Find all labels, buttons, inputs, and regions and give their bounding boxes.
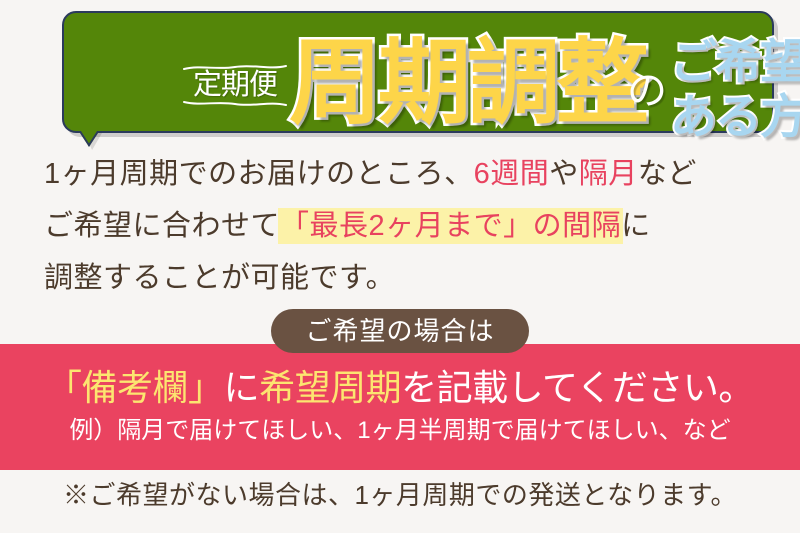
body-l2-seg1: ご希望に合わせて — [44, 210, 280, 242]
body-line-2: ご希望に合わせて「最長2ヶ月まで」の間隔に — [44, 200, 774, 252]
audience-line-1: ご希望が — [670, 35, 800, 89]
instruction-cycle-word: 希望周期 — [259, 367, 401, 408]
audience-line-2: ある方へ — [670, 90, 800, 144]
title-particle: の — [627, 71, 667, 111]
body-l2-highlight-maxtwomonths: 「最長2ヶ月まで」の間隔 — [280, 210, 621, 242]
promo-banner: 定期便 周期調整 の ご希望が ある方へ 1ヶ月周期でのお届けのところ、6週間や… — [0, 0, 800, 533]
audience-callout: ご希望が ある方へ — [670, 35, 800, 144]
instruction-examples: 例）隔月で届けてほしい、1ヶ月半周期で届けてほしい、など — [0, 416, 800, 446]
instruction-field-name: 「備考欄」 — [46, 367, 224, 408]
footnote: ※ご希望がない場合は、1ヶ月周期での発送となります。 — [0, 478, 800, 512]
body-line-1: 1ヶ月周期でのお届けのところ、6週間や隔月など — [44, 148, 774, 200]
body-l1-seg1: 1ヶ月周期でのお届けのところ、 — [44, 158, 474, 190]
status-badge: ご希望の場合は — [271, 309, 529, 353]
wavy-rule-bottom-icon — [183, 100, 287, 107]
body-l1-seg5: など — [638, 158, 697, 190]
header-bubble: 定期便 周期調整 の ご希望が ある方へ — [62, 11, 774, 133]
instruction-action: を記載してください。 — [401, 367, 754, 408]
body-l1-seg3: や — [549, 158, 579, 190]
bubble-tail-icon — [78, 131, 100, 149]
body-l3-seg1: 調整することが可能です。 — [44, 262, 395, 294]
subscription-label: 定期便 — [193, 71, 277, 100]
instruction-band: 「備考欄」に希望周期を記載してください。 例）隔月で届けてほしい、1ヶ月半周期で… — [0, 344, 800, 470]
subscription-label-group: 定期便 — [182, 43, 288, 127]
status-badge-label: ご希望の場合は — [305, 318, 494, 344]
header-section: 定期便 周期調整 の ご希望が ある方へ — [0, 0, 800, 142]
body-l2-seg3: に — [621, 210, 651, 242]
body-l1-highlight-6weeks: 6週間 — [474, 158, 550, 190]
body-paragraph: 1ヶ月周期でのお届けのところ、6週間や隔月など ご希望に合わせて「最長2ヶ月まで… — [44, 148, 774, 304]
page-title: 周期調整 — [289, 30, 645, 136]
instruction-headline: 「備考欄」に希望周期を記載してください。 — [0, 366, 800, 410]
body-line-3: 調整することが可能です。 — [44, 252, 774, 304]
body-l1-highlight-bimonthly: 隔月 — [579, 158, 638, 190]
instruction-particle: に — [224, 367, 260, 408]
